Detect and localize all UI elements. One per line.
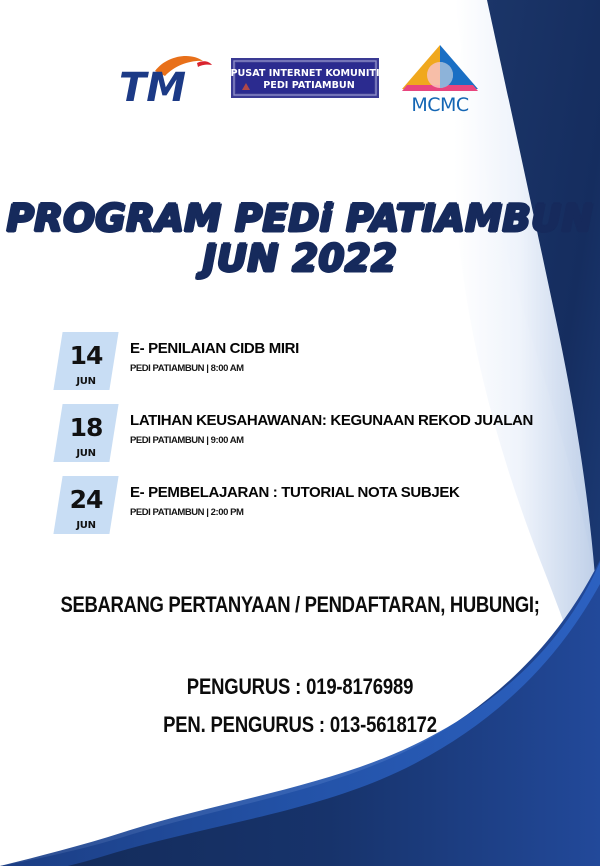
event-meta: PEDI PATIAMBUN | 8:00 AM — [130, 363, 578, 374]
pedi-patiambun-logo: PUSAT INTERNET KOMUNITI PEDI PATIAMBUN — [231, 58, 379, 98]
event-item: 24 JUN E- PEMBELAJARAN : TUTORIAL NOTA S… — [58, 476, 578, 534]
event-month: JUN — [58, 440, 114, 459]
event-day: 14 — [58, 332, 114, 368]
date-badge: 24 JUN — [58, 476, 114, 534]
event-month: JUN — [58, 512, 114, 531]
poster-title: PROGRAM PEDi PATIAMBUN JUN 2022 — [0, 200, 600, 277]
mcmc-logo-text: MCMC — [411, 94, 469, 116]
title-line-1: PROGRAM PEDi PATIAMBUN — [0, 200, 600, 238]
event-list: 14 JUN E- PENILAIAN CIDB MIRI PEDI PATIA… — [58, 332, 578, 548]
pedi-logo-line1: PUSAT INTERNET KOMUNITI — [231, 68, 379, 79]
poster-canvas: TM PUSAT INTERNET KOMUNITI PEDI PATIAMBU… — [0, 0, 600, 866]
event-month: JUN — [58, 368, 114, 387]
contact-number-list: PENGURUS : 019-8176989 PEN. PENGURUS : 0… — [0, 674, 600, 738]
tm-logo-text: TM — [119, 65, 186, 107]
date-badge: 18 JUN — [58, 404, 114, 462]
event-day: 18 — [58, 404, 114, 440]
event-meta: PEDI PATIAMBUN | 9:00 AM — [130, 435, 578, 446]
tm-accent-icon — [197, 61, 212, 67]
event-text: LATIHAN KEUSAHAWANAN: KEGUNAAN REKOD JUA… — [130, 404, 578, 446]
tm-logo: TM — [117, 49, 213, 107]
contact-section: SEBARANG PERTANYAAN / PENDAFTARAN, HUBUN… — [0, 592, 600, 750]
event-title: E- PENILAIAN CIDB MIRI — [130, 340, 578, 357]
contact-heading: SEBARANG PERTANYAAN / PENDAFTARAN, HUBUN… — [48, 592, 552, 618]
event-text: E- PEMBELAJARAN : TUTORIAL NOTA SUBJEK P… — [130, 476, 578, 518]
pedi-logo-line2: PEDI PATIAMBUN — [263, 80, 355, 91]
event-title: E- PEMBELAJARAN : TUTORIAL NOTA SUBJEK — [130, 484, 578, 501]
event-item: 14 JUN E- PENILAIAN CIDB MIRI PEDI PATIA… — [58, 332, 578, 390]
event-item: 18 JUN LATIHAN KEUSAHAWANAN: KEGUNAAN RE… — [58, 404, 578, 462]
event-day: 24 — [58, 476, 114, 512]
contact-assistant-manager: PEN. PENGURUS : 013-5618172 — [48, 712, 552, 738]
contact-manager: PENGURUS : 019-8176989 — [48, 674, 552, 700]
event-meta: PEDI PATIAMBUN | 2:00 PM — [130, 507, 578, 518]
event-text: E- PENILAIAN CIDB MIRI PEDI PATIAMBUN | … — [130, 332, 578, 374]
mcmc-logo: MCMC — [397, 39, 483, 117]
logo-row: TM PUSAT INTERNET KOMUNITI PEDI PATIAMBU… — [0, 38, 600, 118]
title-line-2: JUN 2022 — [0, 240, 600, 278]
event-title: LATIHAN KEUSAHAWANAN: KEGUNAAN REKOD JUA… — [130, 412, 578, 429]
date-badge: 14 JUN — [58, 332, 114, 390]
